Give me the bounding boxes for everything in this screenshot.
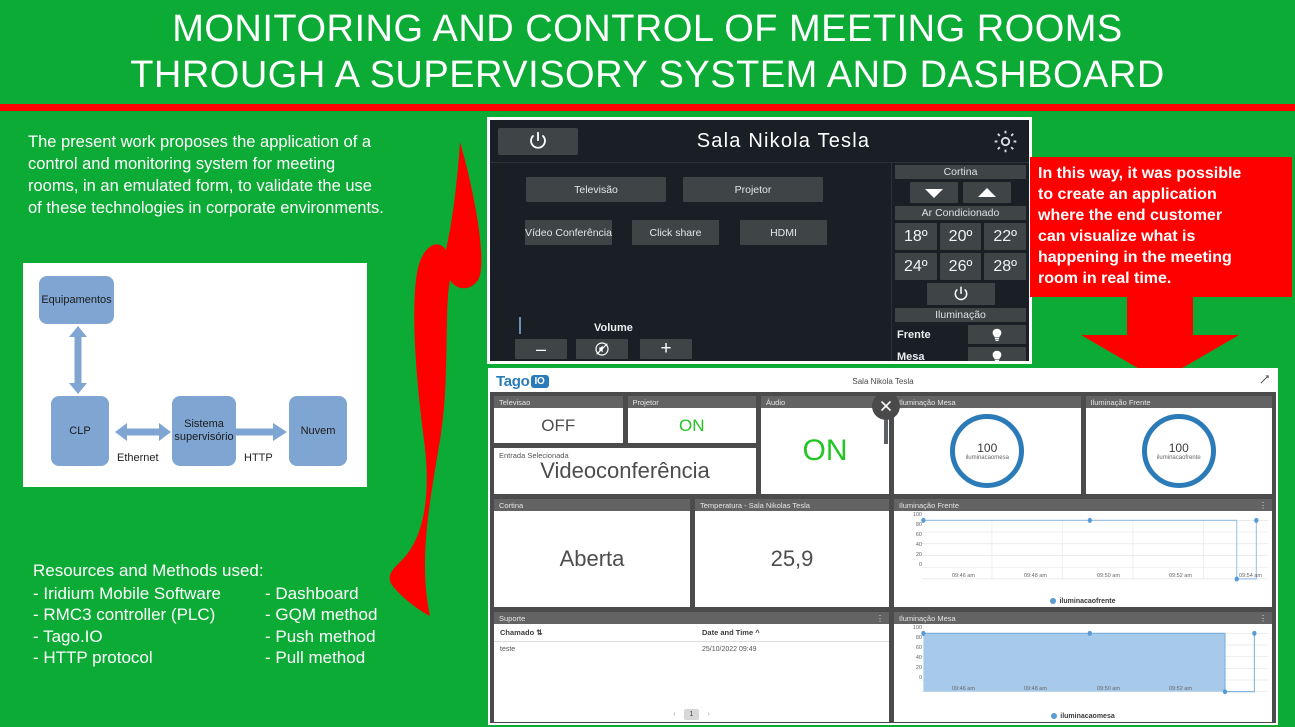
diagram-node-nuvem-label: Nuvem bbox=[301, 425, 336, 438]
chart-mesa-ytick-0: 0 bbox=[919, 675, 922, 681]
ac-temp-20-label: 20º bbox=[949, 228, 973, 246]
table-col-datetime-label: Date and Time bbox=[702, 628, 753, 637]
widget-televisao-header: Televisao bbox=[494, 396, 623, 408]
chart-mesa-xtick-1: 09:46 am bbox=[952, 686, 975, 692]
source-button-projetor[interactable]: Projetor bbox=[683, 177, 823, 202]
source-button-clickshare-label: Click share bbox=[650, 227, 702, 239]
resources-left-2: - RMC3 controller (PLC) bbox=[33, 604, 265, 626]
ac-temp-28-label: 28º bbox=[993, 258, 1017, 276]
widget-suporte-title: Suporte bbox=[499, 614, 525, 623]
gauge-iluminacao-frente-value: 100 bbox=[1169, 442, 1189, 455]
pagination-prev[interactable]: ‹ bbox=[673, 711, 675, 718]
ac-temp-20[interactable]: 20º bbox=[940, 223, 982, 250]
diagram-node-equipamentos-label: Equipamentos bbox=[41, 294, 111, 307]
diagram-node-equipamentos: Equipamentos bbox=[39, 276, 114, 324]
ac-temp-22[interactable]: 22º bbox=[984, 223, 1026, 250]
chart-mesa-ytick-100: 100 bbox=[913, 625, 922, 631]
chart-mesa-ytick-80: 80 bbox=[916, 635, 922, 641]
diagram-arrow-ethernet bbox=[115, 421, 171, 443]
gauge-ring: 100 iluminacaofrente bbox=[1142, 414, 1216, 488]
gauge-iluminacao-mesa-value: 100 bbox=[977, 442, 997, 455]
table-col-chamado-label: Chamado bbox=[500, 628, 534, 637]
ac-power-button[interactable] bbox=[927, 283, 995, 305]
expand-icon[interactable] bbox=[1259, 374, 1270, 388]
chart-frente-ytick-60: 60 bbox=[916, 532, 922, 538]
intro-paragraph: The present work proposes the applicatio… bbox=[28, 131, 428, 219]
widget-televisao-value: OFF bbox=[541, 416, 575, 436]
diagram-node-clp: CLP bbox=[51, 396, 109, 466]
chart-frente-title: Iluminação Frente bbox=[899, 501, 959, 510]
widget-projetor-value: ON bbox=[679, 416, 705, 436]
widget-chart-iluminacao-mesa-header: Iluminação Mesa ⋮ bbox=[894, 612, 1272, 624]
gear-icon bbox=[992, 128, 1019, 155]
resources-left-4: - HTTP protocol bbox=[33, 647, 265, 669]
legend-dot-icon bbox=[1051, 713, 1057, 719]
widget-iluminacao-mesa-gauge: Iluminação Mesa 100 iluminacaomesa bbox=[894, 396, 1081, 494]
chart-mesa-xtick-3: 09:50 am bbox=[1097, 686, 1120, 692]
volume-down-button[interactable]: – bbox=[515, 339, 567, 359]
widget-temperatura-value: 25,9 bbox=[771, 546, 814, 572]
widget-suporte-header: Suporte ⋮ bbox=[494, 612, 889, 624]
kebab-menu-icon[interactable]: ⋮ bbox=[876, 614, 884, 623]
chart-mesa-xtick-2: 09:48 am bbox=[1024, 686, 1047, 692]
source-button-videoconferencia[interactable]: Vídeo Conferência bbox=[525, 220, 612, 245]
dashboard-row-3: Suporte ⋮ Chamado ⇅ bbox=[494, 612, 1272, 722]
chart-frente-xtick-5: 09:54 am bbox=[1239, 573, 1262, 579]
volume-up-button[interactable]: + bbox=[640, 339, 692, 359]
chart-mesa-ytick-60: 60 bbox=[916, 645, 922, 651]
source-button-videoconferencia-label: Vídeo Conferência bbox=[525, 227, 612, 239]
widget-projetor: Projetor ON bbox=[628, 396, 757, 443]
widget-entrada-header: Entrada Selecionada bbox=[499, 451, 569, 460]
source-button-projetor-label: Projetor bbox=[735, 184, 772, 196]
chart-frente-legend-label: iluminacaofrente bbox=[1059, 598, 1115, 605]
chart-frente-ytick-40: 40 bbox=[916, 542, 922, 548]
dashboard-page-title: Sala Nikola Tesla bbox=[490, 377, 1276, 386]
widget-cortina-value: Aberta bbox=[560, 546, 625, 572]
source-button-clickshare[interactable]: Click share bbox=[632, 220, 719, 245]
widget-temperatura: Temperatura - Sala Nikolas Tesla 25,9 bbox=[695, 499, 889, 607]
gauge-iluminacao-frente-variable: iluminacaofrente bbox=[1157, 455, 1201, 461]
chart-frente-ytick-100: 100 bbox=[913, 512, 922, 518]
mute-icon bbox=[594, 341, 610, 357]
chart-mesa-ytick-20: 20 bbox=[916, 665, 922, 671]
widget-iluminacao-frente-gauge-header: Iluminação Frente bbox=[1086, 396, 1273, 408]
volume-mute-button[interactable] bbox=[576, 339, 628, 359]
cortina-down-button[interactable] bbox=[910, 182, 958, 203]
bulb-icon bbox=[991, 350, 1003, 364]
panel-room-title: Sala Nikola Tesla bbox=[578, 130, 989, 153]
pagination-next[interactable]: › bbox=[707, 711, 709, 718]
table-row[interactable]: teste 25/10/2022 09:49 bbox=[494, 642, 889, 658]
slide-root: MONITORING AND CONTROL OF MEETING ROOMS … bbox=[0, 0, 1295, 727]
widget-iluminacao-frente-gauge: Iluminação Frente 100 iluminacaofrente bbox=[1086, 396, 1273, 494]
chart-frente-legend[interactable]: iluminacaofrente bbox=[894, 598, 1272, 605]
widget-temperatura-header: Temperatura - Sala Nikolas Tesla bbox=[695, 499, 889, 511]
close-icon bbox=[880, 400, 892, 412]
lamp-frente-button[interactable] bbox=[968, 325, 1026, 344]
touch-control-panel: Sala Nikola Tesla Televisão Projetor bbox=[487, 117, 1032, 364]
panel-sources-area: Televisão Projetor Vídeo Conferência Cli… bbox=[490, 162, 892, 364]
panel-controls-area: Cortina Ar Condicionado 18º bbox=[892, 162, 1029, 364]
intro-line-2: control and monitoring system for meetin… bbox=[28, 153, 428, 175]
widget-cortina-header: Cortina bbox=[494, 499, 690, 511]
diagram-node-sistema-label: Sistema supervisório bbox=[174, 418, 233, 444]
tago-dashboard: Tago IO Sala Nikola Tesla Televisao bbox=[488, 368, 1278, 725]
diagram-arrow-vertical bbox=[67, 326, 89, 394]
volume-up-label: + bbox=[660, 338, 671, 360]
callout-line-6: room in real time. bbox=[1038, 268, 1284, 289]
panel-header: Sala Nikola Tesla bbox=[490, 120, 1029, 162]
lamp-mesa-label: Mesa bbox=[895, 351, 968, 363]
conclusion-callout: In this way, it was possible to create a… bbox=[1030, 157, 1292, 297]
diagram-node-nuvem: Nuvem bbox=[289, 396, 347, 466]
callout-line-1: In this way, it was possible bbox=[1038, 163, 1284, 184]
chart-mesa-title: Iluminação Mesa bbox=[899, 614, 956, 623]
chart-mesa-canvas: 100 80 60 40 20 0 09:46 am 09:48 am 09:5… bbox=[894, 624, 1272, 722]
callout-line-2: to create an application bbox=[1038, 184, 1284, 205]
ac-section-header: Ar Condicionado bbox=[895, 206, 1026, 220]
chart-frente-ytick-0: 0 bbox=[919, 562, 922, 568]
ac-temp-18-label: 18º bbox=[904, 228, 928, 246]
table-col-chamado[interactable]: Chamado ⇅ bbox=[494, 624, 696, 642]
ac-temp-26-label: 26º bbox=[949, 258, 973, 276]
page-title: MONITORING AND CONTROL OF MEETING ROOMS … bbox=[0, 0, 1295, 104]
chart-frente-xtick-1: 09:46 am bbox=[952, 573, 975, 579]
resources-block: Resources and Methods used: - Iridium Mo… bbox=[33, 560, 433, 669]
intro-line-4: of these technologies in corporate envir… bbox=[28, 197, 428, 219]
kebab-menu-icon[interactable]: ⋮ bbox=[1259, 614, 1267, 623]
diagram-node-clp-label: CLP bbox=[69, 425, 90, 438]
power-icon bbox=[952, 285, 970, 303]
source-button-hdmi[interactable]: HDMI bbox=[740, 220, 827, 245]
intro-line-3: rooms, in an emulated form, to validate … bbox=[28, 175, 428, 197]
chart-frente-xtick-4: 09:52 am bbox=[1169, 573, 1192, 579]
chart-frente-xtick-2: 09:48 am bbox=[1024, 573, 1047, 579]
widget-chart-iluminacao-frente-header: Iluminação Frente ⋮ bbox=[894, 499, 1272, 511]
dashboard-row-2: Cortina Aberta Temperatura - Sala Nikola… bbox=[494, 499, 1272, 607]
widget-chart-iluminacao-mesa: Iluminação Mesa ⋮ bbox=[894, 612, 1272, 722]
architecture-diagram: Equipamentos CLP Ethernet Sistema superv… bbox=[20, 260, 370, 490]
ac-temp-18[interactable]: 18º bbox=[895, 223, 937, 250]
chart-mesa-legend[interactable]: iluminacaomesa bbox=[894, 713, 1272, 720]
table-col-datetime[interactable]: Date and Time ^ bbox=[696, 624, 889, 642]
page-title-line-2: THROUGH A SUPERVISORY SYSTEM AND DASHBOA… bbox=[130, 52, 1165, 98]
chart-frente-canvas: 100 80 60 40 20 0 09:46 am 09:48 am 09:5… bbox=[894, 511, 1272, 607]
chart-mesa-ytick-40: 40 bbox=[916, 655, 922, 661]
volume-label: Volume bbox=[594, 322, 633, 334]
legend-dot-icon bbox=[1050, 598, 1056, 604]
callout-line-5: happening in the meeting bbox=[1038, 247, 1284, 268]
power-icon bbox=[527, 130, 549, 152]
lamp-frente-label: Frente bbox=[895, 329, 968, 341]
title-divider bbox=[0, 104, 1295, 111]
page-title-line-1: MONITORING AND CONTROL OF MEETING ROOMS bbox=[172, 6, 1123, 52]
chart-frente-xtick-3: 09:50 am bbox=[1097, 573, 1120, 579]
diagram-node-sistema-supervisorio: Sistema supervisório bbox=[172, 396, 236, 466]
source-button-televisao[interactable]: Televisão bbox=[526, 177, 666, 202]
widget-audio-value: ON bbox=[803, 434, 848, 468]
resources-left-1: - Iridium Mobile Software bbox=[33, 583, 265, 605]
widget-iluminacao-mesa-gauge-header: Iluminação Mesa bbox=[894, 396, 1081, 408]
table-cell-chamado: teste bbox=[494, 642, 696, 658]
diagram-label-http: HTTP bbox=[244, 452, 273, 464]
table-pagination: ‹ 1 › bbox=[494, 709, 889, 720]
ac-temp-22-label: 22º bbox=[993, 228, 1017, 246]
illumination-section-header: Iluminação bbox=[895, 308, 1026, 322]
ac-temp-24-label: 24º bbox=[904, 258, 928, 276]
close-button-stem bbox=[884, 418, 888, 444]
dashboard-body: Televisao OFF Projetor ON bbox=[490, 392, 1276, 725]
resources-left-3: - Tago.IO bbox=[33, 626, 265, 648]
lamp-mesa-button[interactable] bbox=[968, 347, 1026, 364]
callout-line-3: where the end customer bbox=[1038, 205, 1284, 226]
bulb-icon bbox=[991, 328, 1003, 342]
cortina-up-button[interactable] bbox=[963, 182, 1011, 203]
volume-slider-cursor[interactable] bbox=[519, 317, 521, 334]
chevron-down-icon bbox=[924, 187, 944, 199]
widget-audio: Áudio ON bbox=[761, 396, 889, 494]
widget-chart-iluminacao-frente: Iluminação Frente ⋮ bbox=[894, 499, 1272, 607]
dashboard-header: Tago IO Sala Nikola Tesla bbox=[490, 370, 1276, 392]
widget-suporte: Suporte ⋮ Chamado ⇅ bbox=[494, 612, 889, 722]
kebab-menu-icon[interactable]: ⋮ bbox=[1259, 501, 1267, 510]
cortina-section-header: Cortina bbox=[895, 165, 1026, 179]
chart-mesa-legend-label: iluminacaomesa bbox=[1060, 713, 1114, 720]
diagram-arrow-http bbox=[235, 421, 287, 443]
widget-projetor-header: Projetor bbox=[628, 396, 757, 408]
chart-mesa-xtick-4: 09:52 am bbox=[1169, 686, 1192, 692]
gauge-iluminacao-mesa-variable: iluminacaomesa bbox=[966, 455, 1009, 461]
close-button[interactable] bbox=[872, 392, 900, 420]
panel-settings-button[interactable] bbox=[989, 126, 1021, 156]
sort-asc-icon[interactable]: ^ bbox=[755, 628, 759, 637]
source-button-hdmi-label: HDMI bbox=[770, 227, 797, 239]
volume-down-label: – bbox=[536, 339, 546, 360]
gauge-ring: 100 iluminacaomesa bbox=[950, 414, 1024, 488]
table-header-row: Chamado ⇅ Date and Time ^ bbox=[494, 624, 889, 642]
source-button-televisao-label: Televisão bbox=[574, 184, 618, 196]
chevron-up-icon bbox=[977, 187, 997, 199]
chart-frente-ytick-80: 80 bbox=[916, 522, 922, 528]
intro-line-1: The present work proposes the applicatio… bbox=[28, 131, 428, 153]
widget-cortina: Cortina Aberta bbox=[494, 499, 690, 607]
callout-line-4: can visualize what is bbox=[1038, 226, 1284, 247]
sort-icon[interactable]: ⇅ bbox=[536, 628, 542, 637]
widget-audio-header: Áudio bbox=[761, 396, 889, 408]
pagination-page-1[interactable]: 1 bbox=[684, 709, 700, 720]
lamp-row-frente: Frente bbox=[895, 325, 1026, 344]
ac-temp-28[interactable]: 28º bbox=[984, 253, 1026, 280]
lamp-row-mesa: Mesa bbox=[895, 347, 1026, 364]
resources-heading: Resources and Methods used: bbox=[33, 560, 433, 582]
widget-televisao: Televisao OFF bbox=[494, 396, 623, 443]
ac-temp-24[interactable]: 24º bbox=[895, 253, 937, 280]
diagram-label-ethernet: Ethernet bbox=[117, 452, 159, 464]
table-cell-datetime: 25/10/2022 09:49 bbox=[696, 642, 889, 658]
suporte-table: Chamado ⇅ Date and Time ^ bbox=[494, 624, 889, 657]
widget-entrada-selecionada: Entrada Selecionada Videoconferência bbox=[494, 448, 756, 494]
chart-frente-ytick-20: 20 bbox=[916, 552, 922, 558]
ac-temp-26[interactable]: 26º bbox=[940, 253, 982, 280]
panel-power-button[interactable] bbox=[498, 128, 578, 155]
widget-entrada-value: Videoconferência bbox=[540, 458, 710, 484]
